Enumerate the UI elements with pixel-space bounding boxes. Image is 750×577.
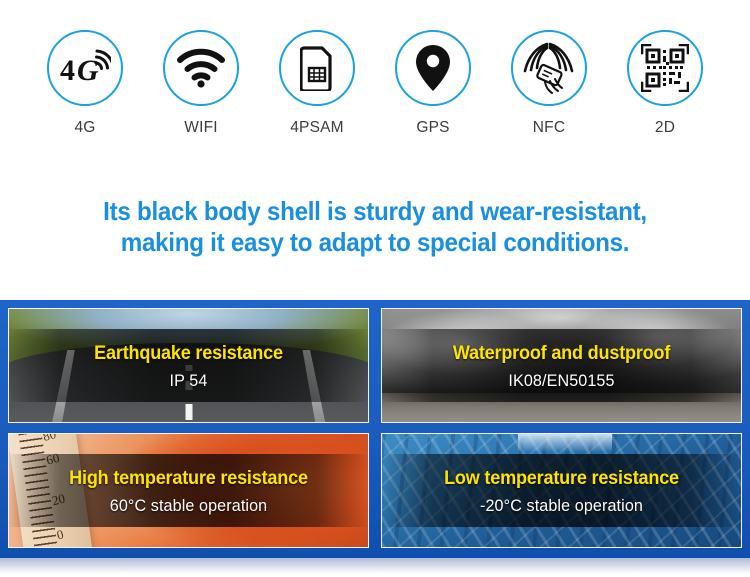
ice-highlight bbox=[518, 434, 611, 452]
frame-drop-shadow bbox=[0, 558, 750, 574]
feature-icon-strip: 4 G 4G bbox=[0, 30, 750, 170]
feature-label: 4PSAM bbox=[290, 119, 344, 137]
svg-text:4: 4 bbox=[60, 54, 75, 87]
panel-subtitle: IK08/EN50155 bbox=[391, 371, 732, 391]
thermometer-tick-label: 0 bbox=[56, 526, 66, 543]
panel-subtitle: IP 54 bbox=[18, 371, 359, 391]
feature-label: 4G bbox=[74, 119, 95, 137]
nfc-icon bbox=[511, 30, 587, 106]
feature-item-gps[interactable]: GPS bbox=[390, 30, 476, 170]
thermometer-tick-label: 80 bbox=[42, 433, 58, 444]
panel-caption: Waterproof and dustproof IK08/EN50155 bbox=[382, 341, 741, 391]
road-dash bbox=[185, 404, 192, 420]
wifi-icon bbox=[163, 30, 239, 106]
feature-label: WIFI bbox=[184, 119, 218, 137]
qr-code-icon bbox=[627, 30, 703, 106]
feature-label: 2D bbox=[655, 119, 675, 137]
panel-caption: High temperature resistance 60°C stable … bbox=[9, 466, 368, 516]
panel-caption: Earthquake resistance IP 54 bbox=[9, 341, 368, 391]
panel-caption: Low temperature resistance -20°C stable … bbox=[382, 466, 741, 516]
feature-item-4g[interactable]: 4 G 4G bbox=[42, 30, 128, 170]
sim-card-icon bbox=[279, 30, 355, 106]
product-feature-banner: 4 G 4G bbox=[0, 0, 750, 577]
headline-line-2: making it easy to adapt to special condi… bbox=[26, 227, 724, 258]
feature-item-4psam[interactable]: 4PSAM bbox=[274, 30, 360, 170]
panel-low-temperature-resistance[interactable]: Low temperature resistance -20°C stable … bbox=[381, 433, 742, 548]
panel-waterproof-dustproof[interactable]: Waterproof and dustproof IK08/EN50155 bbox=[381, 308, 742, 423]
svg-text:G: G bbox=[77, 54, 99, 87]
durability-panel-frame: Earthquake resistance IP 54 Waterproof a… bbox=[0, 300, 750, 558]
feature-label: NFC bbox=[533, 119, 565, 137]
durability-panel-grid: Earthquake resistance IP 54 Waterproof a… bbox=[8, 308, 742, 548]
panel-high-temperature-resistance[interactable]: 80 60 20 0 High temperature resistance 6… bbox=[8, 433, 369, 548]
panel-earthquake-resistance[interactable]: Earthquake resistance IP 54 bbox=[8, 308, 369, 423]
panel-title: Earthquake resistance bbox=[18, 343, 359, 365]
panel-title: Low temperature resistance bbox=[391, 468, 732, 490]
feature-item-2d[interactable]: 2D bbox=[622, 30, 708, 170]
feature-item-wifi[interactable]: WIFI bbox=[158, 30, 244, 170]
feature-label: GPS bbox=[416, 119, 449, 137]
panel-title: Waterproof and dustproof bbox=[391, 343, 732, 365]
panel-title: High temperature resistance bbox=[18, 468, 359, 490]
feature-item-nfc[interactable]: NFC bbox=[506, 30, 592, 170]
headline: Its black body shell is sturdy and wear-… bbox=[0, 196, 750, 258]
panel-subtitle: 60°C stable operation bbox=[18, 496, 359, 516]
location-pin-icon bbox=[395, 30, 471, 106]
headline-line-1: Its black body shell is sturdy and wear-… bbox=[26, 196, 724, 227]
panel-subtitle: -20°C stable operation bbox=[391, 496, 732, 516]
4g-icon: 4 G bbox=[47, 30, 123, 106]
